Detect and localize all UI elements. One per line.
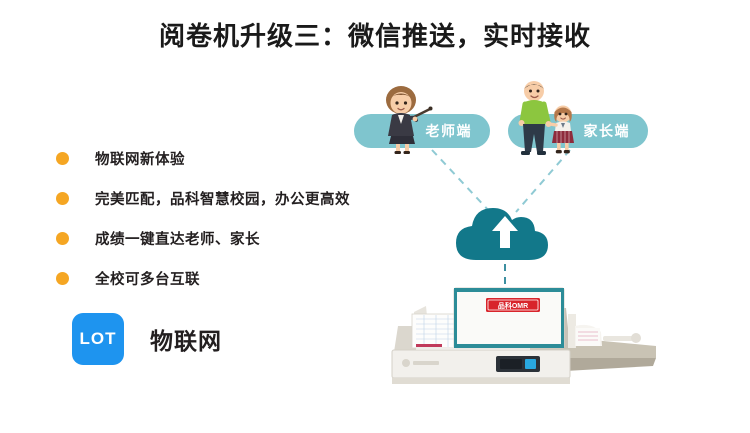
bullet-dot-icon bbox=[56, 192, 69, 205]
list-item-label: 完美匹配，品科智慧校园，办公更高效 bbox=[95, 188, 350, 209]
iot-badge-icon: LOT bbox=[72, 313, 124, 365]
list-item: 成绩一键直达老师、家长 bbox=[56, 218, 386, 258]
list-item: 全校可多台互联 bbox=[56, 258, 386, 298]
list-item-label: 物联网新体验 bbox=[95, 148, 185, 169]
omr-scanner-machine-icon: 品科OMR bbox=[370, 274, 660, 399]
page-title: 阅卷机升级三：微信推送，实时接收 bbox=[0, 16, 750, 53]
iot-label: 物联网 bbox=[150, 322, 222, 356]
iot-badge-block: LOT 物联网 bbox=[72, 313, 222, 365]
cloud-upload-icon bbox=[450, 194, 560, 269]
list-item-label: 全校可多台互联 bbox=[95, 268, 200, 289]
list-item-label: 成绩一键直达老师、家长 bbox=[95, 228, 260, 249]
list-item: 物联网新体验 bbox=[56, 138, 386, 178]
architecture-diagram: 老师端 bbox=[340, 66, 740, 411]
bullet-dot-icon bbox=[56, 152, 69, 165]
svg-text:品科OMR: 品科OMR bbox=[498, 301, 528, 310]
parent-and-child-character-icon bbox=[510, 78, 582, 156]
bullet-dot-icon bbox=[56, 272, 69, 285]
feature-bullet-list: 物联网新体验 完美匹配，品科智慧校园，办公更高效 成绩一键直达老师、家长 全校可… bbox=[56, 138, 386, 298]
list-item: 完美匹配，品科智慧校园，办公更高效 bbox=[56, 178, 386, 218]
bullet-dot-icon bbox=[56, 232, 69, 245]
parent-pill-label: 家长端 bbox=[584, 121, 631, 141]
teacher-character-icon bbox=[374, 84, 434, 154]
slide-canvas: 阅卷机升级三：微信推送，实时接收 物联网新体验 完美匹配，品科智慧校园，办公更高… bbox=[0, 0, 750, 433]
